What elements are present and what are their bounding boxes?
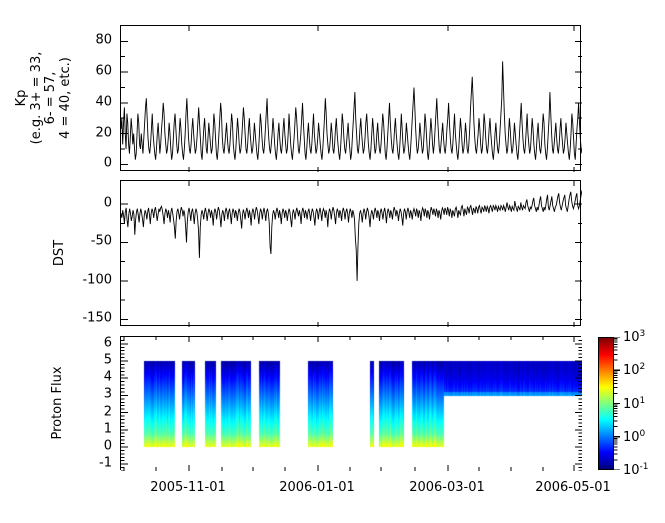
- kp-y-tick-label: 40: [70, 94, 112, 109]
- proton-flux-y-tick-label: 1: [76, 421, 112, 436]
- proton-flux-plot-panel: [120, 336, 581, 470]
- x-axis-tick-label: 2005-11-01: [150, 480, 226, 495]
- figure-canvas: Kp(e.g. 3+ = 33,6- = 57,4 = 40, etc.) 02…: [0, 0, 665, 523]
- colorbar: [598, 337, 614, 470]
- colorbar-mantissa: 10: [623, 330, 640, 345]
- colorbar-tick-label: 103: [623, 329, 645, 345]
- colorbar-mantissa: 10: [623, 363, 640, 378]
- proton-flux-y-tick-label: 2: [76, 404, 112, 419]
- proton-flux-y-tick-label: 4: [76, 370, 112, 385]
- proton-flux-axis-ticks: [121, 337, 582, 471]
- colorbar-mantissa: 10: [623, 430, 640, 445]
- proton-flux-axis-label: Proton Flux: [51, 353, 69, 453]
- colorbar-tick-label: 101: [623, 395, 645, 411]
- colorbar-tick-label: 10-1: [623, 462, 649, 478]
- kp-axis-label-line: Kp: [15, 23, 30, 173]
- kp-plot-panel: [120, 25, 581, 171]
- proton-flux-y-tick-label: -1: [76, 456, 112, 471]
- colorbar-tick-label: 102: [623, 362, 645, 378]
- proton-flux-y-tick-label: 0: [76, 438, 112, 453]
- colorbar-exponent: 1: [640, 395, 646, 405]
- dst-plot-panel: [120, 180, 581, 326]
- colorbar-gradient-canvas: [599, 338, 613, 469]
- proton-flux-y-tick-label: 6: [76, 335, 112, 350]
- dst-series-plot: [121, 181, 582, 327]
- kp-y-tick-label: 60: [70, 64, 112, 79]
- kp-axis-label-line: (e.g. 3+ = 33,: [30, 23, 45, 173]
- dst-y-tick-label: -150: [60, 311, 112, 326]
- colorbar-exponent: 2: [640, 362, 646, 372]
- kp-y-tick-label: 20: [70, 125, 112, 140]
- colorbar-mantissa: 10: [623, 463, 640, 478]
- kp-axis-label-line: 6- = 57,: [44, 23, 59, 173]
- dst-y-tick-label: -100: [60, 272, 112, 287]
- colorbar-exponent: -1: [640, 462, 649, 472]
- dst-y-tick-label: 0: [60, 196, 112, 211]
- colorbar-exponent: 0: [640, 429, 646, 439]
- kp-y-tick-label: 80: [70, 33, 112, 48]
- x-axis-tick-label: 2006-03-01: [409, 480, 485, 495]
- colorbar-exponent: 3: [640, 329, 646, 339]
- kp-series-plot: [121, 26, 582, 172]
- x-axis-tick-label: 2006-01-01: [279, 480, 355, 495]
- proton-flux-y-tick-label: 3: [76, 387, 112, 402]
- x-axis-tick-label: 2006-05-01: [535, 480, 611, 495]
- colorbar-tick-label: 100: [623, 429, 645, 445]
- colorbar-mantissa: 10: [623, 397, 640, 412]
- dst-y-tick-label: -50: [60, 234, 112, 249]
- kp-y-tick-label: 0: [70, 156, 112, 171]
- proton-flux-y-tick-label: 5: [76, 353, 112, 368]
